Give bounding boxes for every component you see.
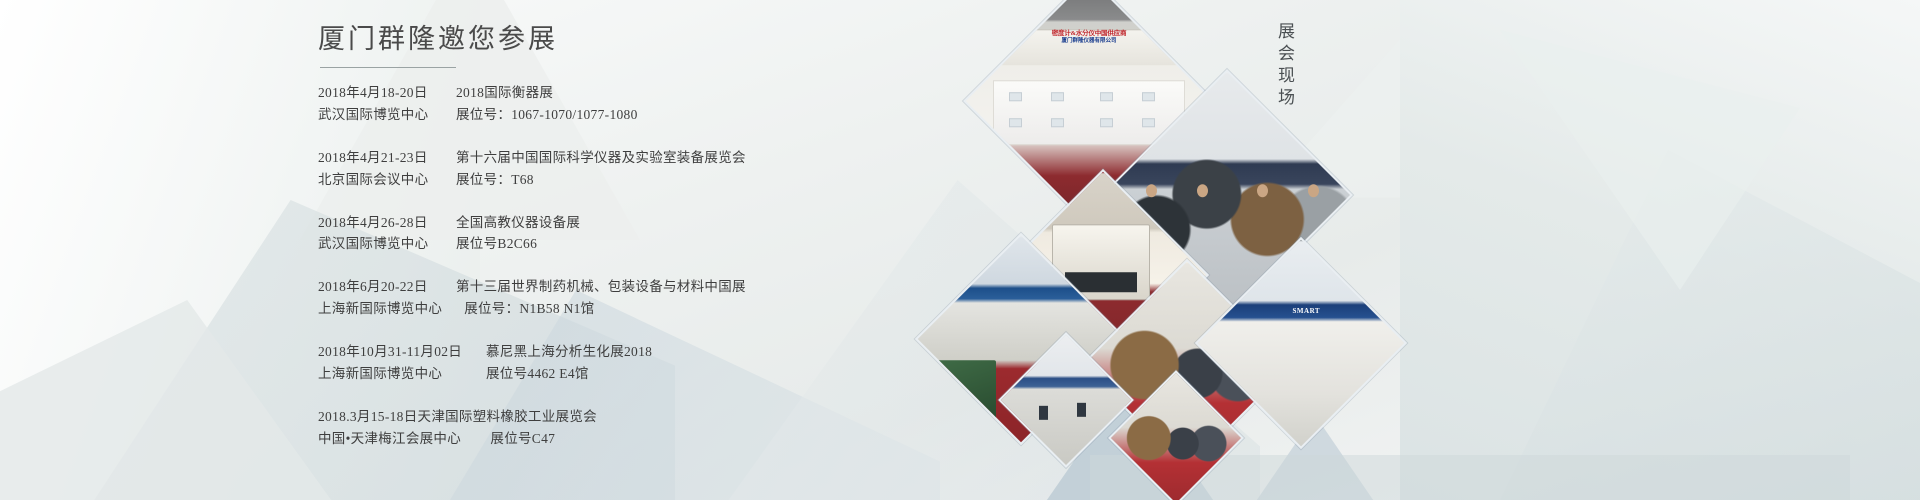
entry-title: 慕尼黑上海分析生化展2018 (486, 341, 652, 363)
background-facet-13 (1500, 30, 1800, 290)
entry-title: 全国高教仪器设备展 (456, 212, 580, 234)
background-facet-4 (0, 300, 360, 500)
schedule-entry-line-1: 2018年6月20-22日 第十三届世界制药机械、包装设备与材料中国展 (318, 276, 938, 298)
schedule-entry: 2018年4月26-28日 全国高教仪器设备展 武汉国际博览中心 展位号B2C6… (318, 212, 938, 256)
schedule-entry-line-2: 上海新国际博览中心 展位号：N1B58 N1馆 (318, 298, 938, 320)
entry-date: 2018年4月26-28日 (318, 212, 434, 234)
entry-venue: 中国•天津梅江会展中心 (318, 431, 461, 446)
entry-booth: 展位号：T68 (456, 169, 534, 191)
schedule-entry-line-2: 上海新国际博览中心 展位号4462 E4馆 (318, 363, 938, 385)
schedule-entry: 2018.3月15-18日天津国际塑料橡胶工业展览会 中国•天津梅江会展中心 展… (318, 406, 938, 450)
entry-venue: 武汉国际博览中心 (318, 104, 434, 126)
booth-banner-company: 厦门群隆仪器有限公司 (983, 38, 1195, 44)
background-facet-8 (1400, 0, 1920, 500)
schedule-entry-line-2: 武汉国际博览中心 展位号：1067-1070/1077-1080 (318, 104, 938, 126)
schedule-entry: 2018年4月21-23日 第十六届中国国际科学仪器及实验室装备展览会 北京国际… (318, 147, 938, 191)
entry-date: 2018年10月31-11月02日 (318, 341, 464, 363)
schedule-entry-line-1: 2018年10月31-11月02日 慕尼黑上海分析生化展2018 (318, 341, 938, 363)
schedule-entry-line-2: 中国•天津梅江会展中心 展位号C47 (318, 428, 938, 450)
entry-title: 2018国际衡器展 (456, 82, 553, 104)
hall-machine-green (936, 360, 995, 424)
schedule-entry: 2018年4月18-20日 2018国际衡器展 武汉国际博览中心 展位号：106… (318, 82, 938, 126)
schedule-entry: 2018年6月20-22日 第十三届世界制药机械、包装设备与材料中国展 上海新国… (318, 276, 938, 320)
entry-title: 第十三届世界制药机械、包装设备与材料中国展 (456, 276, 746, 298)
title-divider (320, 67, 456, 68)
page-title: 厦门群隆邀您参展 (318, 22, 938, 57)
entry-venue: 北京国际会议中心 (318, 169, 434, 191)
smart-logo: SMART (1293, 307, 1321, 315)
entry-date: 2018年4月21-23日 (318, 147, 434, 169)
schedule-entry-line-2: 武汉国际博览中心 展位号B2C66 (318, 233, 938, 255)
background-facet-9 (1500, 150, 1920, 500)
photo-collage: 密度计&水分仪中国供应商 厦门群隆仪器有限公司 (1008, 0, 1428, 500)
entry-date: 2018.3月15-18日天津国际塑料橡胶工业展览会 (318, 409, 597, 424)
promo-banner: 厦门群隆邀您参展 2018年4月18-20日 2018国际衡器展 武汉国际博览中… (0, 0, 1920, 500)
entry-booth: 展位号C47 (490, 431, 555, 446)
entry-venue: 武汉国际博览中心 (318, 233, 434, 255)
schedule-entry-line-2: 北京国际会议中心 展位号：T68 (318, 169, 938, 191)
entry-booth: 展位号：1067-1070/1077-1080 (456, 104, 638, 126)
entry-booth: 展位号B2C66 (456, 233, 537, 255)
entry-venue: 上海新国际博览中心 (318, 363, 464, 385)
exhibition-schedule: 厦门群隆邀您参展 2018年4月18-20日 2018国际衡器展 武汉国际博览中… (318, 22, 938, 470)
schedule-entry-line-1: 2018年4月18-20日 2018国际衡器展 (318, 82, 938, 104)
schedule-entry: 2018年10月31-11月02日 慕尼黑上海分析生化展2018 上海新国际博览… (318, 341, 938, 385)
entry-title: 第十六届中国国际科学仪器及实验室装备展览会 (456, 147, 746, 169)
entry-date: 2018年4月18-20日 (318, 82, 434, 104)
entry-booth: 展位号：N1B58 N1馆 (464, 298, 594, 320)
schedule-entry-line-1: 2018年4月21-23日 第十六届中国国际科学仪器及实验室装备展览会 (318, 147, 938, 169)
schedule-entry-line-1: 2018年4月26-28日 全国高教仪器设备展 (318, 212, 938, 234)
booth-banner: 密度计&水分仪中国供应商 厦门群隆仪器有限公司 (983, 30, 1195, 65)
entry-date: 2018年6月20-22日 (318, 276, 434, 298)
entry-booth: 展位号4462 E4馆 (486, 363, 589, 385)
booth-product-panel (993, 80, 1185, 146)
entry-venue: 上海新国际博览中心 (318, 298, 442, 320)
vertical-section-label: 展会现场 (1272, 22, 1295, 110)
schedule-entry-line-1: 2018.3月15-18日天津国际塑料橡胶工业展览会 (318, 406, 938, 428)
